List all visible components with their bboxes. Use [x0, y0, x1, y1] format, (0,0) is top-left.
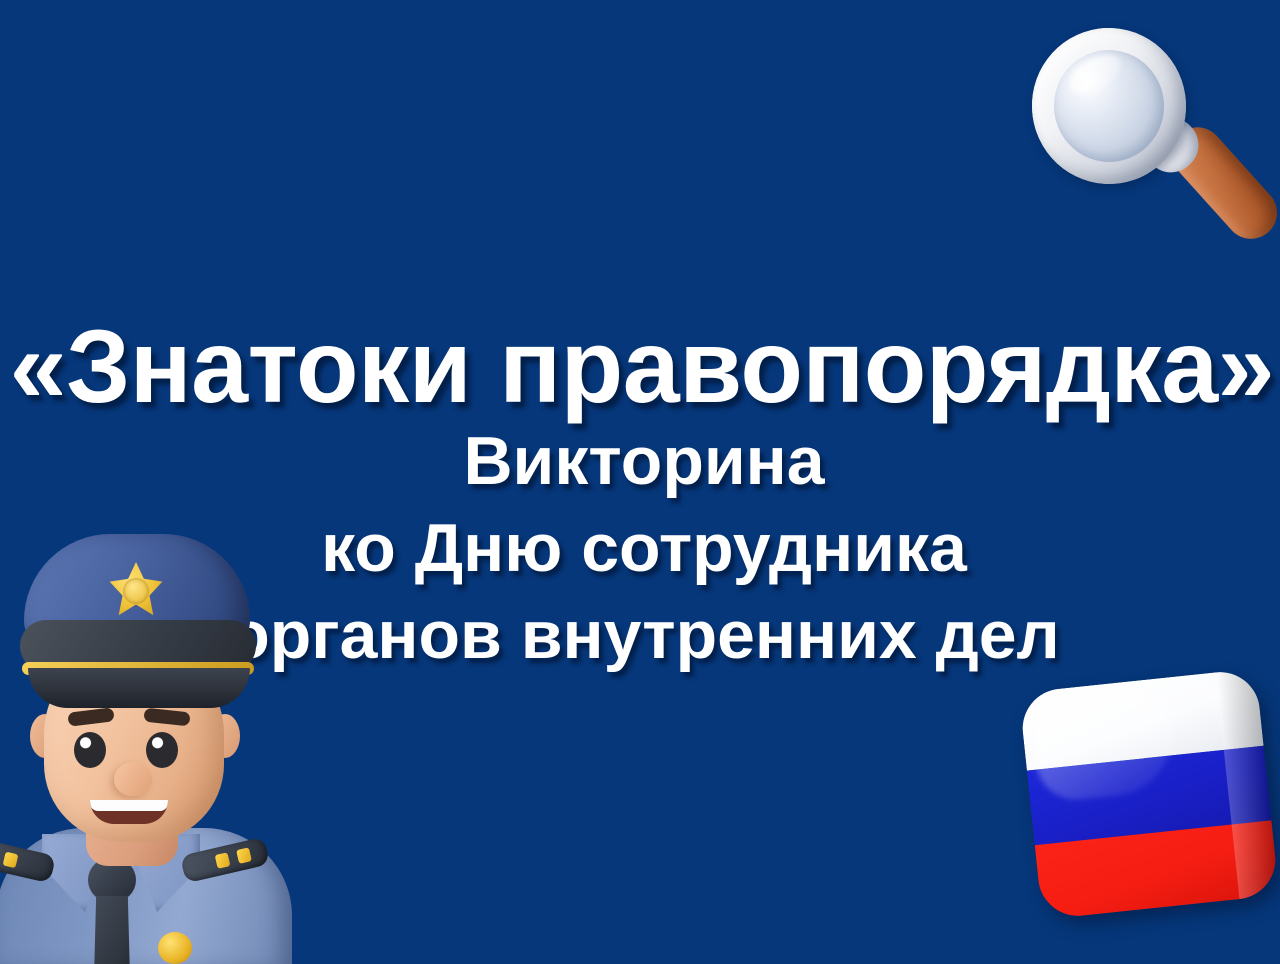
officer-eye-right — [146, 732, 178, 768]
page-title: «Знатоки правопорядка» — [10, 312, 1271, 422]
subtitle-line-1: Викторина — [0, 418, 1280, 505]
officer-cap-visor — [28, 668, 250, 708]
officer-tie — [94, 896, 130, 964]
officer-chest-badge — [158, 932, 192, 964]
officer-nose — [114, 762, 152, 796]
officer-eye-left — [74, 732, 106, 768]
flag-face — [1019, 668, 1280, 920]
officer-teeth — [90, 800, 168, 811]
magnifying-glass-icon — [1026, 22, 1266, 247]
officer-cap-badge-center — [123, 578, 149, 604]
police-officer-illustration — [0, 528, 296, 964]
epaulette-bar — [215, 852, 231, 869]
epaulette-bar — [3, 852, 19, 869]
officer-mouth — [90, 800, 168, 824]
epaulette-bar — [236, 847, 252, 864]
quiz-title-slide: «Знатоки правопорядка» Викторина ко Дню … — [0, 0, 1280, 964]
russian-flag-icon — [1019, 668, 1280, 920]
